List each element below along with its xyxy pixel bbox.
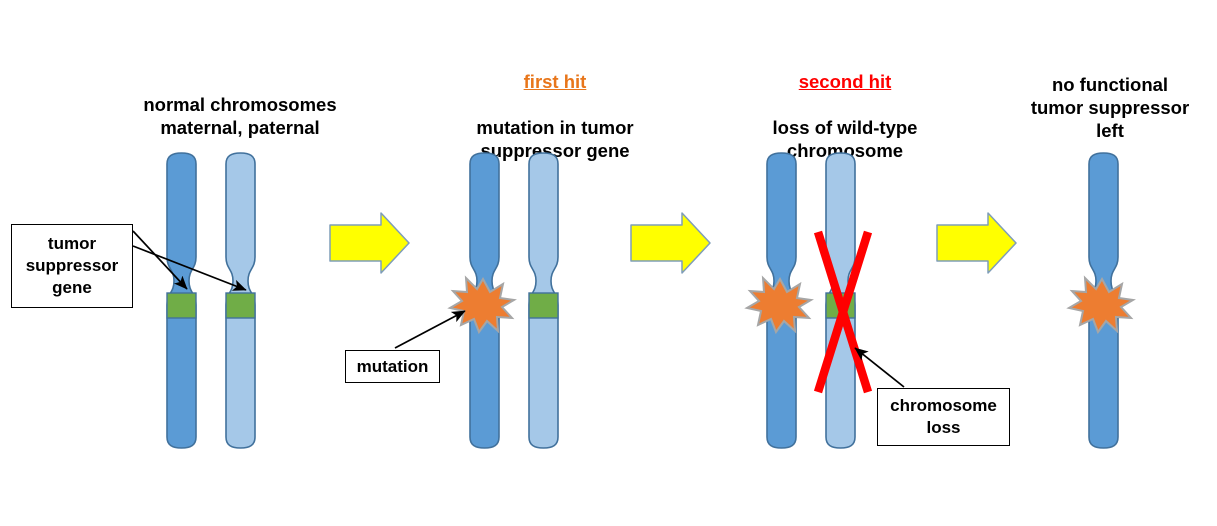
flow-arrow-3 bbox=[937, 213, 1016, 273]
gene-band-maternal-p1 bbox=[167, 293, 196, 318]
panel-first-hit-chromosomes bbox=[450, 153, 558, 448]
panel-normal-chromosomes bbox=[167, 153, 255, 448]
diagram-vector-layer bbox=[0, 0, 1217, 526]
gene-band-paternal-p2 bbox=[529, 293, 558, 318]
pointer-line-to-mutation bbox=[395, 311, 465, 348]
panel-second-hit-chromosomes bbox=[747, 153, 868, 448]
panel-no-function-chromosomes bbox=[1069, 153, 1133, 448]
mutation-starburst-p2 bbox=[450, 278, 514, 332]
callout-text-chromosome-loss: chromosome loss bbox=[890, 395, 997, 439]
flow-arrow-1 bbox=[330, 213, 409, 273]
gene-band-paternal-p1 bbox=[226, 293, 255, 318]
callout-text-tumor-suppressor-gene: tumor suppressor gene bbox=[26, 233, 119, 299]
callout-chromosome-loss: chromosome loss bbox=[877, 388, 1010, 446]
mutation-starburst-p4 bbox=[1069, 278, 1133, 332]
figure-canvas: normal chromosomes maternal, paternal fi… bbox=[0, 0, 1217, 526]
mutation-starburst-p3 bbox=[747, 278, 811, 332]
callout-tumor-suppressor-gene: tumor suppressor gene bbox=[11, 224, 133, 308]
callout-text-mutation: mutation bbox=[357, 356, 429, 378]
flow-arrow-2 bbox=[631, 213, 710, 273]
callout-mutation: mutation bbox=[345, 350, 440, 383]
